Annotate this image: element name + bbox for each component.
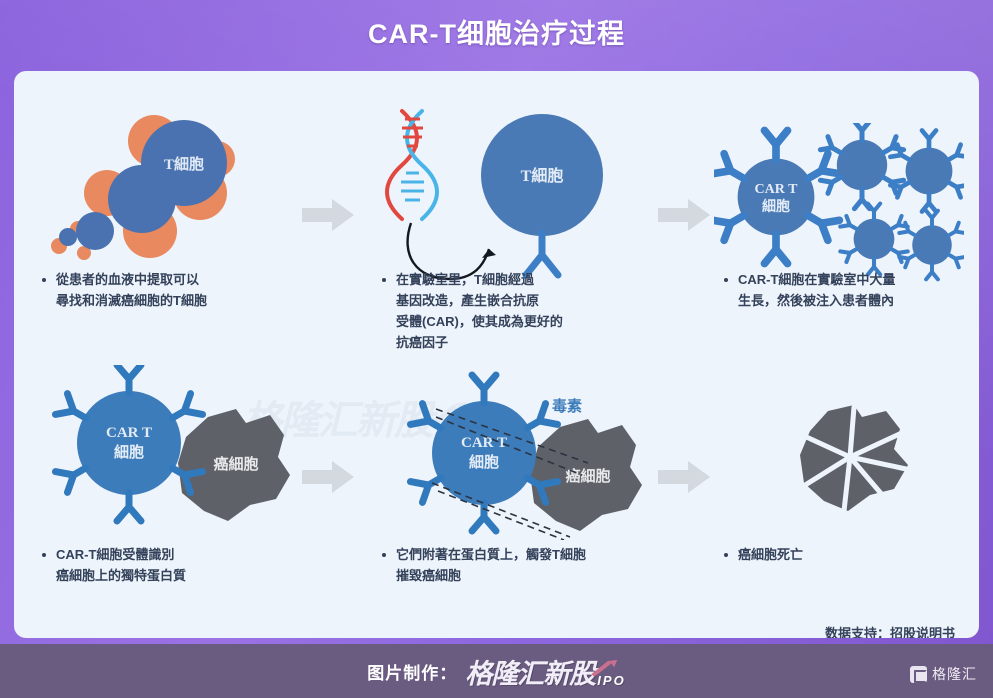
blood-cell-blue — [76, 212, 114, 250]
bullet-icon — [382, 278, 386, 282]
source-note: 数据支持：招股说明书 — [825, 623, 955, 638]
car-t-cell — [890, 130, 964, 211]
bullet-icon — [42, 278, 46, 282]
caption-line: CAR-T細胞受體識別 — [56, 544, 186, 565]
corner-logo: 格隆汇 — [910, 664, 977, 684]
caption-line: 生長，然後被注入患者體內 — [738, 290, 895, 311]
brand-logo: 格隆汇新股 IPO — [465, 652, 625, 691]
blood-sample-illustration: T細胞 — [32, 101, 302, 286]
car-t-expansion-illustration: CAR T 細胞 — [714, 123, 964, 283]
tumor-label: 癌細胞 — [565, 467, 610, 485]
caption-line: 在實驗室里，T細胞經過 — [396, 269, 563, 290]
bullet-icon — [42, 553, 46, 557]
car-t-label-line1: CAR T — [461, 435, 507, 451]
panel-engineer-caption: 在實驗室里，T細胞經過 基因改造，產生嵌合抗原 受體(CAR)，使其成為更好的 … — [382, 269, 682, 353]
brand-suffix: IPO — [597, 673, 625, 688]
step-arrow-icon — [298, 195, 358, 235]
credit-label: 图片制作： — [367, 659, 457, 684]
bullet-icon — [382, 553, 386, 557]
car-t-label-line1: CAR T — [755, 182, 799, 197]
dna-helix-icon — [387, 111, 437, 219]
panel-extract-art: T細胞 — [32, 101, 302, 286]
step-arrow-icon — [298, 457, 358, 497]
step-arrow-icon — [654, 457, 714, 497]
car-t-cell-labeled — [55, 365, 202, 521]
t-cell-label: T細胞 — [521, 166, 564, 185]
panel-recognize-art: 癌細胞 CAR T 細胞 — [32, 365, 312, 535]
car-t-cell — [840, 204, 907, 275]
tumor-cell-destroyed — [800, 405, 908, 511]
tumor-label: 癌細胞 — [213, 455, 258, 473]
caption-line: CAR-T細胞在實驗室中大量 — [738, 269, 895, 290]
caption-line: 它們附著在蛋白質上，觸發T細胞 — [396, 544, 586, 565]
car-t-label-line2: 細胞 — [114, 443, 144, 461]
panel-death-art — [766, 403, 956, 543]
footer-band: 图片制作： 格隆汇新股 IPO 格隆汇 — [0, 644, 993, 698]
page-title: CAR-T细胞治疗过程 — [0, 12, 993, 51]
caption-line: 從患者的血液中提取可以 — [56, 269, 207, 290]
attack-illustration: 癌細胞 CAR T 細胞 — [392, 365, 672, 540]
panel-attack-art: 癌細胞 CAR T 細胞 — [392, 365, 672, 540]
diagram-card: 格隆汇新股 IPO T細胞 — [14, 71, 979, 638]
corner-brand-name: 格隆汇 — [932, 664, 977, 684]
footer-credit: 图片制作： 格隆汇新股 IPO — [0, 644, 993, 698]
infographic-root: CAR-T细胞治疗过程 格隆汇新股 IPO T細胞 — [0, 0, 993, 698]
panel-extract-caption: 從患者的血液中提取可以 尋找和消滅癌細胞的T細胞 — [42, 269, 332, 311]
blood-cell-blue — [59, 228, 77, 246]
caption-line: 摧毀癌細胞 — [396, 565, 586, 586]
caption-line: 抗癌因子 — [396, 332, 563, 353]
car-t-label-line2: 細胞 — [762, 198, 790, 215]
blood-cell-blue — [108, 165, 176, 233]
panel-expand-art: CAR T 細胞 — [714, 123, 964, 283]
gene-editing-illustration: T細胞 — [374, 103, 624, 293]
bullet-icon — [724, 553, 728, 557]
car-t-cell — [820, 123, 903, 209]
panel-recognize-caption: CAR-T細胞受體識別 癌細胞上的獨特蛋白質 — [42, 544, 332, 586]
dead-tumor-illustration — [766, 403, 956, 543]
panel-attack-caption: 它們附著在蛋白質上，觸發T細胞 摧毀癌細胞 — [382, 544, 702, 586]
t-cell-label: T細胞 — [164, 155, 204, 173]
car-t-label-line1: CAR T — [106, 425, 152, 441]
car-t-label-line2: 細胞 — [469, 453, 499, 471]
caption-line: 尋找和消滅癌細胞的T細胞 — [56, 290, 207, 311]
car-t-cell-labeled — [410, 375, 557, 531]
caption-line: 基因改造，產生嵌合抗原 — [396, 290, 563, 311]
step-arrow-icon — [654, 195, 714, 235]
toxin-label: 毒素 — [552, 397, 582, 415]
recognition-illustration: 癌細胞 CAR T 細胞 — [32, 365, 312, 535]
caption-line: 癌細胞死亡 — [738, 544, 803, 565]
bullet-icon — [724, 278, 728, 282]
panel-death-caption: 癌細胞死亡 — [724, 544, 974, 565]
gelonghui-g-icon — [910, 666, 927, 683]
panel-expand-caption: CAR-T細胞在實驗室中大量 生長，然後被注入患者體內 — [724, 269, 974, 311]
caption-line: 癌細胞上的獨特蛋白質 — [56, 565, 186, 586]
caption-line: 受體(CAR)，使其成為更好的 — [396, 311, 563, 332]
brand-name: 格隆汇新股 — [465, 652, 595, 691]
panel-engineer-art: T細胞 — [374, 103, 624, 293]
